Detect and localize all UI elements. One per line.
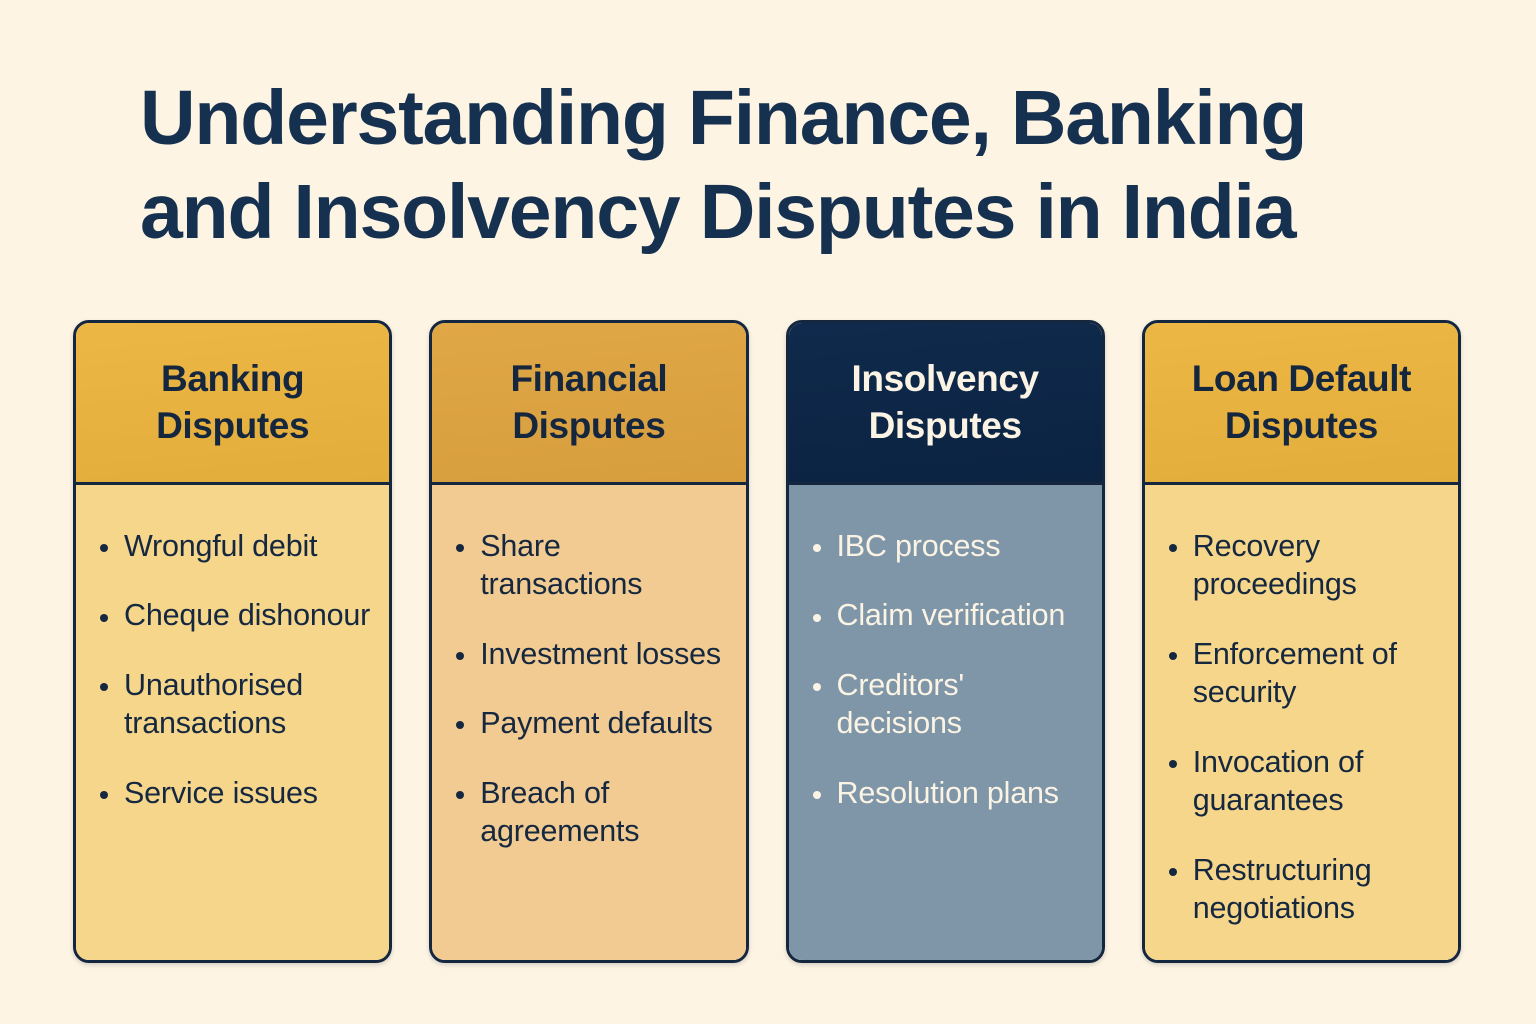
page-title: Understanding Finance, Banking and Insol… (140, 72, 1500, 260)
list-item: Recovery proceedings (1165, 527, 1440, 604)
bullet-dot-icon (100, 791, 108, 799)
card-banking-disputes[interactable]: Banking Disputes Wrongful debit Cheque d… (73, 320, 392, 963)
card-title-line-1: Banking (161, 358, 304, 399)
card-header-financial-disputes: Financial Disputes (432, 323, 745, 485)
bullet-dot-icon (456, 652, 464, 660)
list-item: Service issues (96, 774, 371, 812)
list-item-label: Wrongful debit (124, 529, 317, 563)
list-item-label: Breach of agreements (480, 776, 639, 848)
card-title-line-1: Insolvency (851, 358, 1038, 399)
list-item-label: Cheque dishonour (124, 598, 370, 632)
bullet-dot-icon (100, 683, 108, 691)
list-item-label: Enforcement of security (1193, 637, 1397, 709)
bullet-dot-icon (813, 544, 821, 552)
list-item-label: Claim verification (837, 598, 1066, 632)
bullet-dot-icon (813, 791, 821, 799)
list-item-label: Unauthorised transactions (124, 668, 303, 740)
list-item: Share transactions (452, 527, 727, 604)
list-item: Resolution plans (809, 774, 1084, 812)
page-title-line-2: and Insolvency Disputes in India (140, 169, 1295, 255)
card-title-line-2: Disputes (869, 405, 1022, 446)
card-title-line-2: Disputes (512, 405, 665, 446)
list-item: Wrongful debit (96, 527, 371, 565)
card-header-insolvency-disputes: Insolvency Disputes (789, 323, 1102, 485)
bullet-list-banking-disputes: Wrongful debit Cheque dishonour Unauthor… (96, 527, 371, 812)
bullet-dot-icon (1169, 544, 1177, 552)
list-item-label: Service issues (124, 776, 318, 810)
list-item-label: Payment defaults (480, 706, 712, 740)
bullet-dot-icon (1169, 652, 1177, 660)
list-item-label: Restructuring negotiations (1193, 853, 1372, 925)
card-insolvency-disputes[interactable]: Insolvency Disputes IBC process Claim ve… (786, 320, 1105, 963)
bullet-list-financial-disputes: Share transactions Investment losses Pay… (452, 527, 727, 851)
bullet-dot-icon (1169, 760, 1177, 768)
list-item-label: Resolution plans (837, 776, 1059, 810)
card-title-line-2: Disputes (1225, 405, 1378, 446)
card-body-insolvency-disputes: IBC process Claim verification Creditors… (789, 485, 1102, 960)
bullet-dot-icon (1169, 868, 1177, 876)
list-item: Invocation of guarantees (1165, 743, 1440, 820)
list-item: Cheque dishonour (96, 596, 371, 634)
card-header-banking-disputes: Banking Disputes (76, 323, 389, 485)
card-header-loan-default-disputes: Loan Default Disputes (1145, 323, 1458, 485)
list-item: Creditors' decisions (809, 666, 1084, 743)
list-item: Enforcement of security (1165, 635, 1440, 712)
dispute-category-card-grid: Banking Disputes Wrongful debit Cheque d… (73, 320, 1461, 963)
list-item-label: Share transactions (480, 529, 642, 601)
card-loan-default-disputes[interactable]: Loan Default Disputes Recovery proceedin… (1142, 320, 1461, 963)
card-body-financial-disputes: Share transactions Investment losses Pay… (432, 485, 745, 960)
list-item: IBC process (809, 527, 1084, 565)
list-item-label: Investment losses (480, 637, 721, 671)
card-title-line-1: Financial (510, 358, 667, 399)
bullet-dot-icon (813, 683, 821, 691)
bullet-dot-icon (456, 544, 464, 552)
card-body-loan-default-disputes: Recovery proceedings Enforcement of secu… (1145, 485, 1458, 960)
card-title-line-1: Loan Default (1192, 358, 1411, 399)
card-body-banking-disputes: Wrongful debit Cheque dishonour Unauthor… (76, 485, 389, 960)
list-item: Claim verification (809, 596, 1084, 634)
list-item-label: IBC process (837, 529, 1001, 563)
bullet-dot-icon (813, 614, 821, 622)
page-title-line-1: Understanding Finance, Banking (140, 75, 1306, 161)
list-item-label: Invocation of guarantees (1193, 745, 1363, 817)
list-item: Payment defaults (452, 704, 727, 742)
bullet-dot-icon (456, 721, 464, 729)
card-financial-disputes[interactable]: Financial Disputes Share transactions In… (429, 320, 748, 963)
infographic-canvas: Understanding Finance, Banking and Insol… (0, 0, 1536, 1024)
list-item-label: Creditors' decisions (837, 668, 965, 740)
bullet-dot-icon (100, 544, 108, 552)
list-item: Investment losses (452, 635, 727, 673)
bullet-list-loan-default-disputes: Recovery proceedings Enforcement of secu… (1165, 527, 1440, 927)
list-item: Restructuring negotiations (1165, 851, 1440, 928)
card-title-insolvency-disputes: Insolvency Disputes (851, 356, 1038, 449)
list-item-label: Recovery proceedings (1193, 529, 1357, 601)
bullet-list-insolvency-disputes: IBC process Claim verification Creditors… (809, 527, 1084, 812)
bullet-dot-icon (100, 614, 108, 622)
card-title-banking-disputes: Banking Disputes (156, 356, 309, 449)
card-title-loan-default-disputes: Loan Default Disputes (1192, 356, 1411, 449)
bullet-dot-icon (456, 791, 464, 799)
card-title-line-2: Disputes (156, 405, 309, 446)
list-item: Unauthorised transactions (96, 666, 371, 743)
card-title-financial-disputes: Financial Disputes (510, 356, 667, 449)
list-item: Breach of agreements (452, 774, 727, 851)
